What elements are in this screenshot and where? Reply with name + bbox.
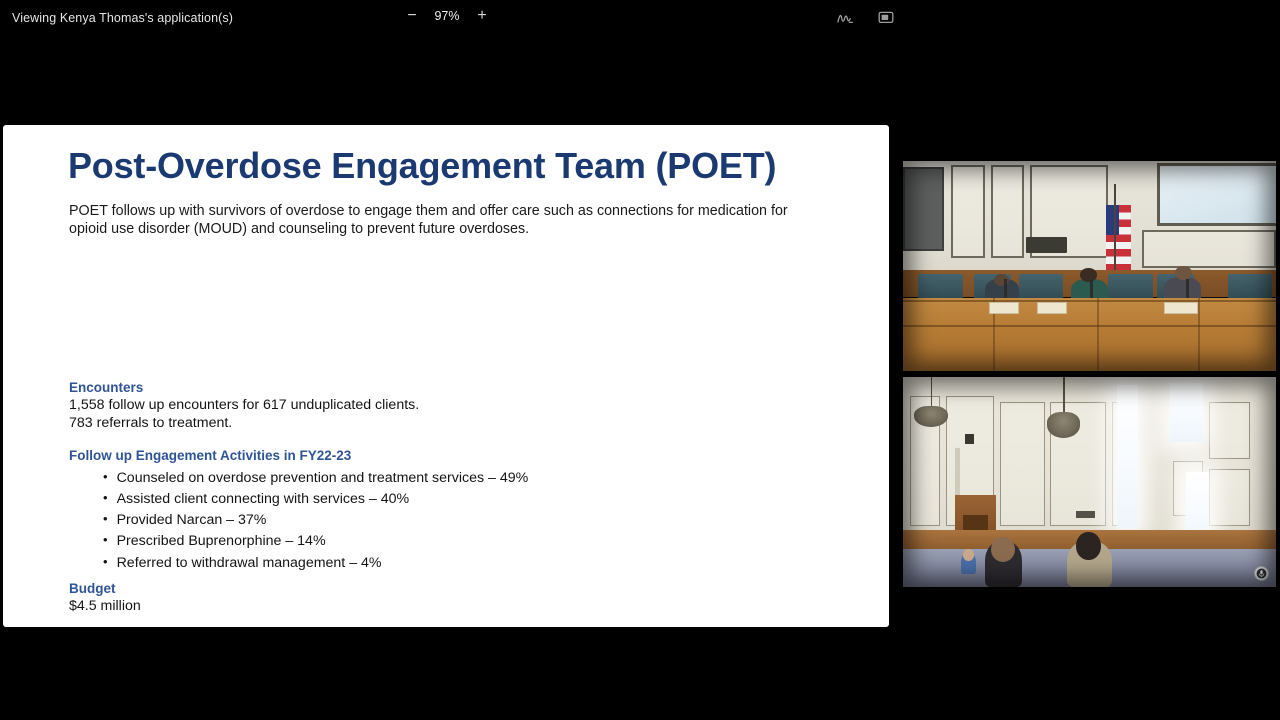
bullet-dot-icon: •: [103, 491, 108, 504]
section-heading-activities: Follow up Engagement Activities in FY22-…: [69, 448, 351, 463]
zoom-out-button[interactable]: −: [405, 9, 419, 23]
list-item-label: Counseled on overdose prevention and tre…: [117, 468, 529, 489]
dais-bench: [903, 298, 1276, 372]
list-item-label: Provided Narcan – 37%: [117, 510, 267, 531]
list-item-label: Assisted client connecting with services…: [117, 489, 410, 510]
chandelier: [1047, 377, 1081, 438]
app-top-bar: Viewing Kenya Thomas's application(s) − …: [0, 0, 1280, 38]
person-head: [1076, 532, 1100, 559]
list-item: • Assisted client connecting with servic…: [103, 489, 528, 510]
chandelier: [914, 377, 948, 427]
wall-molding-panel: [1209, 402, 1250, 459]
audio-indicator-icon[interactable]: [1254, 566, 1269, 581]
wall-fixture: [965, 434, 974, 445]
wall-molding-panel: [1209, 469, 1250, 526]
bullet-dot-icon: •: [103, 470, 108, 483]
wall-vent: [1026, 237, 1067, 254]
name-placard: [1164, 302, 1198, 315]
slide-intro-paragraph: POET follows up with survivors of overdo…: [69, 203, 829, 238]
standing-pole: [955, 448, 959, 494]
person-head: [991, 537, 1015, 562]
person-head: [1175, 266, 1192, 280]
list-item: • Counseled on overdose prevention and t…: [103, 468, 528, 489]
encounters-line-2: 783 referrals to treatment.: [69, 415, 232, 433]
wall-molding-panel: [991, 165, 1025, 257]
wall-molding-panel: [1000, 402, 1045, 526]
video-tile-board-chamber[interactable]: [902, 160, 1277, 372]
person-head: [963, 549, 974, 561]
viewing-status-label: Viewing Kenya Thomas's application(s): [12, 11, 233, 25]
wall-molding-panel: [951, 165, 985, 257]
annotate-icon[interactable]: [836, 9, 854, 27]
section-heading-encounters: Encounters: [69, 380, 143, 395]
screen-share-icon[interactable]: [877, 9, 895, 27]
budget-amount: $4.5 million: [69, 598, 141, 616]
bullet-dot-icon: •: [103, 533, 108, 546]
list-item: • Prescribed Buprenorphine – 14%: [103, 531, 528, 552]
projection-screen: [1157, 163, 1277, 226]
list-item: • Referred to withdrawal management – 4%: [103, 553, 528, 574]
section-heading-budget: Budget: [69, 581, 116, 596]
flag-pole: [1114, 184, 1116, 281]
top-bar-icon-group: [836, 9, 895, 27]
zoom-in-button[interactable]: +: [475, 9, 489, 23]
american-flag: [1106, 205, 1130, 272]
chamber-dark-panel: [903, 167, 944, 251]
tall-window: [1170, 383, 1204, 442]
wall-vent: [1076, 511, 1095, 517]
zoom-controls: − 97% +: [405, 9, 489, 23]
list-item-label: Referred to withdrawal management – 4%: [117, 553, 382, 574]
video-panel: [902, 160, 1277, 588]
name-placard: [1037, 302, 1067, 315]
bullet-dot-icon: •: [103, 512, 108, 525]
tall-window: [1117, 385, 1138, 528]
zoom-level-value: 97%: [432, 9, 462, 23]
encounters-line-1: 1,558 follow up encounters for 617 undup…: [69, 397, 419, 415]
presentation-slide[interactable]: Post-Overdose Engagement Team (POET) POE…: [3, 125, 889, 627]
wall-molding-panel: [1142, 230, 1276, 268]
bullet-dot-icon: •: [103, 555, 108, 568]
name-placard: [989, 302, 1019, 315]
video-tile-hearing-room[interactable]: [902, 376, 1277, 588]
list-item: • Provided Narcan – 37%: [103, 510, 528, 531]
slide-title: Post-Overdose Engagement Team (POET): [68, 145, 776, 187]
activities-bullet-list: • Counseled on overdose prevention and t…: [103, 468, 528, 574]
list-item-label: Prescribed Buprenorphine – 14%: [117, 531, 326, 552]
